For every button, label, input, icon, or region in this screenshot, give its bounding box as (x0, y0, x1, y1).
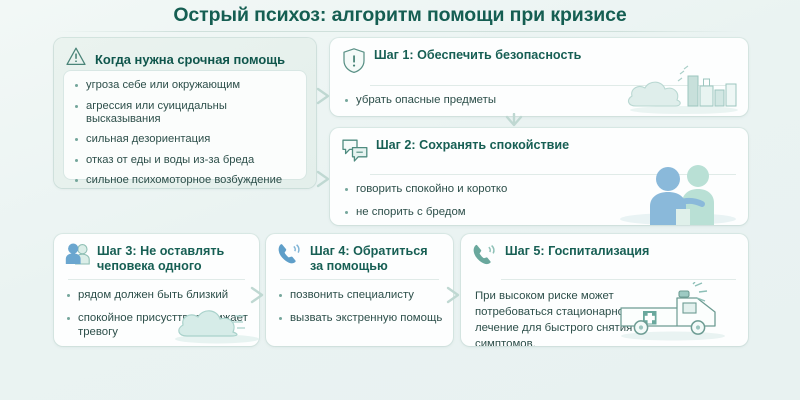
step3-card: Шаг 3: Не оставлять чеповека одного рядо… (54, 234, 259, 346)
list-item: спокойное присусттвие снижает тревогу (78, 311, 249, 339)
urgent-help-title: Когда нужна срочная помощь (95, 52, 285, 67)
warning-triangle-icon (65, 46, 87, 72)
title-bar: Острый психоз: алгоритм помощи при кризи… (0, 0, 800, 30)
page-title: Острый психоз: алгоритм помощи при кризи… (173, 4, 626, 27)
list-item: угроза себе или окружающим (86, 79, 298, 92)
step3-list: рядом должен быть близкий спокойное прис… (54, 280, 259, 339)
step5-header: Шаг 5: Госпитализация (461, 234, 748, 279)
title-divider (55, 31, 745, 32)
step1-card: Шаг 1: Обеспечить безопасность убрать оп… (330, 38, 748, 116)
step1-title: Шаг 1: Обеспечить безопасность (374, 47, 581, 63)
list-item: сильная дезориентация (86, 133, 298, 146)
step4-header: Шаг 4: Обратиться за помощью (266, 234, 453, 279)
step1-header: Шаг 1: Обеспечить безопасность (330, 38, 748, 85)
speech-bubbles-icon (341, 137, 369, 168)
urgent-help-panel: Когда нужна срочная помощь угроза себе и… (54, 38, 316, 188)
step4-card: Шаг 4: Обратиться за помощью позвонить с… (266, 234, 453, 346)
step2-title: Шаг 2: Сохранять спокойствие (376, 137, 569, 153)
list-item: агрессия или суицидальны высказывания (86, 100, 298, 126)
list-item: убрать опасные предметы (356, 93, 734, 107)
phone-call-icon (472, 243, 498, 273)
list-item: отказ от еды и воды из-за бреда (86, 154, 298, 167)
step5-paragraph: При высоком риске может потребоваться ст… (461, 280, 666, 346)
list-item: не спорить с бредом (356, 205, 734, 219)
urgent-help-list: угроза себе или окружающим агрессия или … (64, 71, 306, 187)
step4-list: позвонить специалисту вызвать экстренную… (266, 280, 453, 325)
step5-title: Шаг 5: Госпитализация (505, 243, 649, 259)
list-item: позвонить специалисту (290, 288, 443, 302)
urgent-help-list-box: угроза себе или окружающим агрессия или … (64, 71, 306, 179)
step5-card: Шаг 5: Госпитализация При высоком риске … (461, 234, 748, 346)
step3-header: Шаг 3: Не оставлять чеповека одного (54, 234, 259, 279)
two-persons-icon (65, 243, 90, 270)
list-item: говорить спокойно и коротко (356, 182, 734, 196)
step2-card: Шаг 2: Сохранять спокойствие говорить сп… (330, 128, 748, 225)
step2-header: Шаг 2: Сохранять спокойствие (330, 128, 748, 174)
list-item: вызвать экстренную помощь (290, 311, 443, 325)
shield-alert-icon (341, 47, 367, 79)
step3-title: Шаг 3: Не оставлять чеповека одного (97, 243, 247, 273)
step4-title: Шаг 4: Обратиться за помощью (310, 243, 441, 273)
step2-list: говорить спокойно и коротко не спорить с… (330, 175, 748, 225)
step1-list: убрать опасные предметы огранинить досту… (330, 86, 748, 116)
list-item: сильное психомоторное возбуждение (86, 174, 298, 187)
phone-call-icon (277, 243, 303, 272)
list-item: рядом должен быть близкий (78, 288, 249, 302)
